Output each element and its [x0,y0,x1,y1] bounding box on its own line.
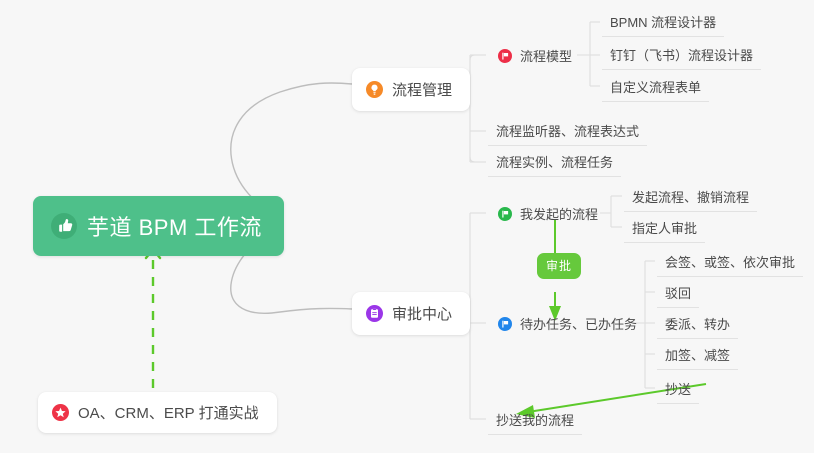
node-process-model-label: 流程模型 [520,50,572,63]
node-custom-process-form-label: 自定义流程表单 [610,81,701,94]
approval-badge-label: 审批 [546,259,572,273]
node-my-initiated-label: 我发起的流程 [520,208,598,221]
node-cc-to-me-label: 抄送我的流程 [496,414,574,427]
node-todo-done-tasks[interactable]: 待办任务、已办任务 [490,311,645,339]
node-assignee-approval[interactable]: 指定人审批 [624,216,705,243]
root-label: 芋道 BPM 工作流 [87,210,262,242]
node-start-cancel-process-label: 发起流程、撤销流程 [632,191,749,204]
node-custom-process-form[interactable]: 自定义流程表单 [602,75,709,102]
node-process-listener-label: 流程监听器、流程表达式 [496,125,639,138]
node-todo-done-tasks-label: 待办任务、已办任务 [520,318,637,331]
node-reject[interactable]: 驳回 [657,281,699,308]
node-countersign-label: 会签、或签、依次审批 [665,256,795,269]
node-cc-label: 抄送 [665,383,691,396]
node-my-initiated[interactable]: 我发起的流程 [490,201,606,229]
thumbs-up-icon [51,213,77,239]
flag-blue-icon [498,317,512,331]
clipboard-icon [366,305,383,322]
node-countersign[interactable]: 会签、或签、依次审批 [657,250,803,277]
node-add-remove-sign[interactable]: 加签、减签 [657,343,738,370]
branch-process-management[interactable]: 流程管理 [352,68,470,111]
approval-badge[interactable]: 审批 [537,253,581,279]
node-bpmn-designer-label: BPMN 流程设计器 [610,16,716,29]
footnote-label: OA、CRM、ERP 打通实战 [78,402,259,423]
branch-approval-center[interactable]: 审批中心 [352,292,470,335]
node-cc[interactable]: 抄送 [657,377,699,404]
root-node[interactable]: 芋道 BPM 工作流 [33,196,284,256]
node-dingtalk-feishu-designer[interactable]: 钉钉（飞书）流程设计器 [602,43,761,70]
mindmap-canvas: 芋道 BPM 工作流 OA、CRM、ERP 打通实战 流程管理 [0,0,814,453]
node-process-listener[interactable]: 流程监听器、流程表达式 [488,119,647,146]
node-cc-to-me[interactable]: 抄送我的流程 [488,408,582,435]
node-start-cancel-process[interactable]: 发起流程、撤销流程 [624,185,757,212]
node-delegate-transfer[interactable]: 委派、转办 [657,312,738,339]
node-process-instance-task-label: 流程实例、流程任务 [496,156,613,169]
branch-approval-center-label: 审批中心 [392,303,452,324]
star-icon [52,404,69,421]
node-delegate-transfer-label: 委派、转办 [665,318,730,331]
flag-red-icon [498,49,512,63]
edge-pm-corner [470,55,475,162]
node-bpmn-designer[interactable]: BPMN 流程设计器 [602,10,724,37]
flag-green-icon [498,207,512,221]
node-dingtalk-feishu-designer-label: 钉钉（飞书）流程设计器 [610,49,753,62]
branch-process-management-label: 流程管理 [392,79,452,100]
node-process-instance-task[interactable]: 流程实例、流程任务 [488,150,621,177]
node-add-remove-sign-label: 加签、减签 [665,349,730,362]
node-process-model[interactable]: 流程模型 [490,43,580,71]
node-reject-label: 驳回 [665,287,691,300]
footnote-node[interactable]: OA、CRM、ERP 打通实战 [38,392,277,433]
lightbulb-icon [366,81,383,98]
node-assignee-approval-label: 指定人审批 [632,222,697,235]
